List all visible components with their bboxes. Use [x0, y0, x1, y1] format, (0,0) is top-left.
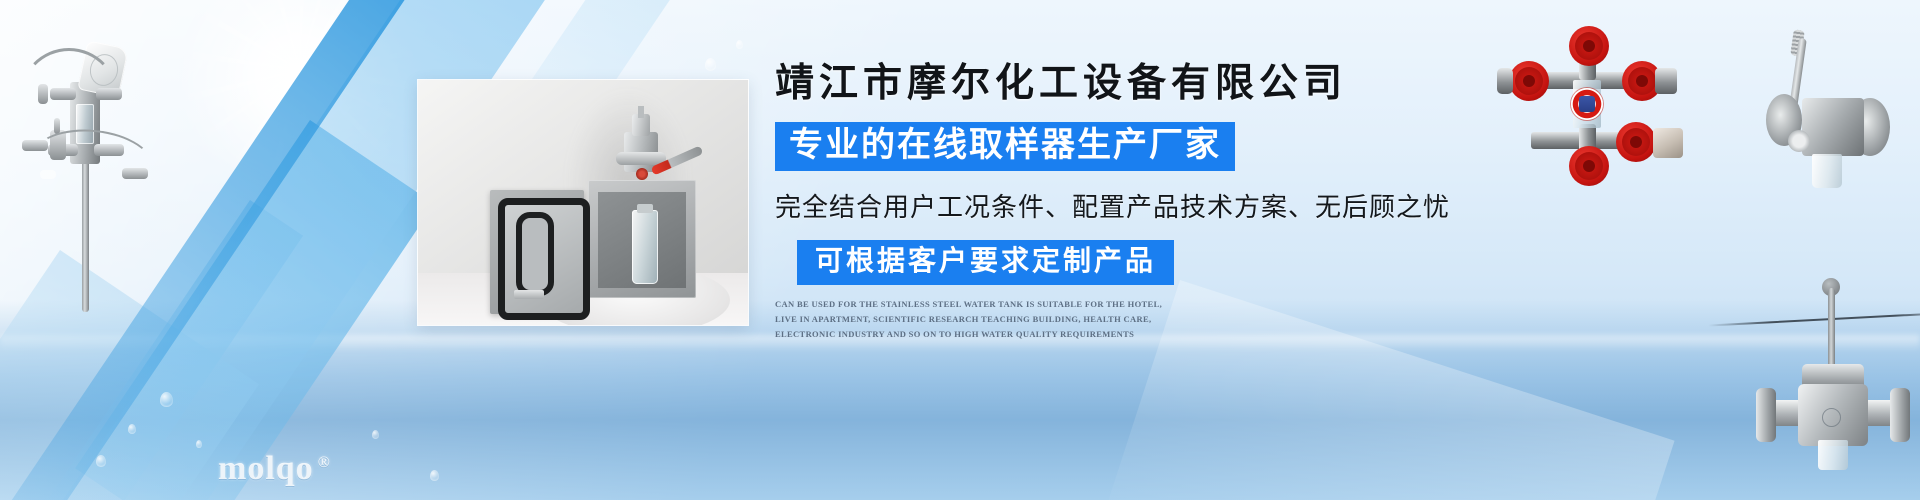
banner-text-block: 靖江市摩尔化工设备有限公司 专业的在线取样器生产厂家 完全结合用户工况条件、配置…	[775, 62, 1515, 341]
product-sample-cup	[40, 170, 56, 179]
company-name: 靖江市摩尔化工设备有限公司	[775, 62, 1515, 106]
valve-dial-icon	[1788, 130, 1810, 152]
subline-text: 完全结合用户工况条件、配置产品技术方案、无后顾之忧	[775, 187, 1515, 224]
manifold-end-flange	[1655, 68, 1677, 94]
promo-banner: 靖江市摩尔化工设备有限公司 专业的在线取样器生产厂家 完全结合用户工况条件、配置…	[0, 0, 1920, 500]
manifold-end-flange	[1497, 68, 1513, 94]
valve-flange	[1890, 388, 1910, 442]
valve-handwheel-icon	[1569, 26, 1609, 66]
photo-valve-stem	[638, 106, 644, 118]
watermark-logo: molqo®	[218, 450, 331, 488]
valve-sample-cup	[1812, 154, 1842, 188]
left-product-image	[10, 22, 160, 312]
manifold-actuator	[1653, 128, 1683, 158]
water-droplet-icon	[736, 40, 743, 49]
bottom-valve-image	[1748, 272, 1918, 454]
headline-highlight-row: 专业的在线取样器生产厂家	[775, 122, 1515, 171]
watermark-registered-mark: ®	[318, 454, 331, 471]
water-droplet-icon	[96, 455, 106, 467]
valve-flange	[1756, 388, 1776, 442]
english-description: CAN BE USED FOR THE STAINLESS STEEL WATE…	[775, 297, 1179, 342]
photo-sample-bottle-cap	[637, 204, 653, 213]
water-droplet-icon	[128, 424, 136, 434]
lever-valve-image	[1750, 26, 1915, 216]
valve-handwheel-icon	[1509, 61, 1549, 101]
valve-handwheel-icon	[1569, 146, 1609, 186]
watermark-text: molqo	[218, 450, 314, 487]
water-droplet-icon	[372, 430, 379, 439]
photo-sample-bottle	[632, 210, 658, 284]
photo-door-window	[516, 212, 554, 296]
valve-brand-mark-icon	[1822, 408, 1841, 427]
valve-handwheel-icon	[1616, 122, 1656, 162]
cross-valve-manifold-image	[1485, 28, 1705, 173]
photo-valve-seal	[636, 168, 648, 180]
headline-highlight: 专业的在线取样器生产厂家	[775, 122, 1235, 171]
valve-handle-shaft	[1828, 288, 1835, 370]
valve-sample-cup	[1818, 440, 1848, 470]
water-droplet-icon	[430, 470, 439, 481]
photo-door-latch	[514, 290, 544, 299]
water-droplet-icon	[705, 58, 716, 71]
secondary-highlight: 可根据客户要求定制产品	[797, 240, 1174, 285]
secondary-highlight-row: 可根据客户要求定制产品	[797, 240, 1515, 285]
valve-body	[1802, 98, 1864, 156]
water-droplet-icon	[160, 392, 173, 407]
center-product-photo	[418, 80, 748, 325]
manufacturer-seal-inner-icon	[1579, 96, 1595, 112]
water-droplet-icon	[196, 440, 202, 448]
